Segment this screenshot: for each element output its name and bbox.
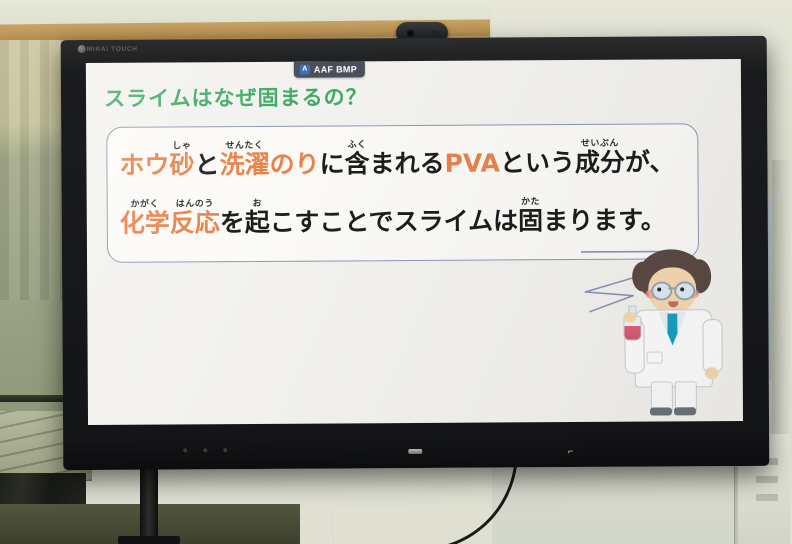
bezel-button[interactable]	[223, 448, 227, 452]
text-run: ウ	[144, 141, 169, 177]
character-eye-left	[657, 287, 661, 291]
text-base: 洗濯	[219, 152, 269, 177]
glasses-lens-left	[651, 281, 672, 300]
text-base: 起	[245, 210, 270, 235]
text-base: 砂	[169, 152, 194, 177]
text-run: お起	[245, 200, 270, 235]
app-badge-label: AAF BMP	[314, 64, 357, 74]
text-run: かがく化学	[120, 200, 170, 235]
text-base: こすことでスライムは	[270, 208, 518, 235]
text-base: まります。	[543, 207, 666, 233]
character-shoe-right	[674, 407, 696, 415]
bezel-button[interactable]	[183, 448, 187, 452]
text-base: 固	[518, 208, 543, 233]
text-run: せんたく洗濯	[219, 142, 269, 177]
text-base: が、	[625, 149, 675, 174]
text-run: せいぶん成分	[575, 140, 625, 175]
text-base: のり	[269, 152, 319, 177]
text-base: 含	[344, 151, 369, 176]
text-run: こすことでスライムは	[270, 197, 518, 235]
slide-title: スライムはなぜ固まるの？	[104, 81, 368, 113]
power-led	[408, 449, 422, 454]
screenshot-root: MIRAI TOUCH A AAF BMP スライムはなぜ固まるの？ ホ ウしゃ…	[0, 0, 792, 544]
text-run: に	[319, 140, 344, 176]
equipment-slot	[756, 476, 778, 483]
equipment-slot	[756, 494, 778, 501]
glasses-lens-right	[674, 281, 695, 300]
text-base: ウ	[144, 152, 169, 177]
text-run: が、	[625, 138, 675, 174]
bezel-marker-icon: ⌐	[568, 446, 573, 456]
text-run: ホ	[119, 142, 144, 178]
text-run: という	[500, 139, 575, 175]
text-run: を	[220, 199, 245, 235]
lab-coat-pocket	[647, 351, 663, 363]
text-run: まれる	[369, 140, 444, 176]
text-run: と	[194, 141, 219, 177]
text-run: ふく含	[344, 141, 369, 176]
text-base: まれる	[370, 151, 445, 176]
app-icon: A	[300, 65, 310, 75]
text-run: PVA	[444, 139, 500, 175]
text-base: 化学	[120, 210, 170, 235]
bubble-line-2: かがく化学はんのう反応 をお起 こすことでスライムはかた固 まります。	[120, 196, 666, 235]
brand-logo-icon	[78, 45, 86, 53]
scientist-character	[612, 247, 731, 418]
lab-coat-lapel-right	[676, 311, 686, 337]
slide-canvas: A AAF BMP スライムはなぜ固まるの？ ホ ウしゃ砂 とせんたく洗濯 のり…	[86, 59, 743, 425]
character-shoe-left	[650, 407, 672, 415]
text-base: を	[220, 210, 245, 235]
display-screen[interactable]: A AAF BMP スライムはなぜ固まるの？ ホ ウしゃ砂 とせんたく洗濯 のり…	[86, 59, 743, 425]
text-base: と	[194, 152, 219, 177]
interactive-display[interactable]: MIRAI TOUCH A AAF BMP スライムはなぜ固まるの？ ホ ウしゃ…	[61, 36, 770, 470]
character-arm-right	[702, 319, 722, 373]
text-base: ホ	[119, 153, 144, 178]
brand-label: MIRAI TOUCH	[87, 46, 138, 53]
text-base: PVA	[445, 150, 500, 175]
text-run: はんのう反応	[170, 200, 220, 235]
text-run: しゃ砂	[169, 142, 194, 177]
character-eye-right	[680, 287, 684, 291]
character-hand-left	[623, 312, 636, 323]
app-badge[interactable]: A AAF BMP	[294, 61, 365, 77]
text-base: という	[500, 150, 575, 175]
glasses-bridge	[668, 287, 675, 289]
text-run: まります。	[543, 196, 666, 233]
bubble-line-1: ホ ウしゃ砂 とせんたく洗濯 のり にふく含 まれる PVA というせいぶん成分…	[119, 138, 674, 177]
bezel-button[interactable]	[203, 448, 207, 452]
text-run: のり	[269, 141, 319, 177]
speech-bubble: ホ ウしゃ砂 とせんたく洗濯 のり にふく含 まれる PVA というせいぶん成分…	[106, 123, 699, 263]
lab-coat-lapel-left	[658, 311, 668, 337]
text-base: 成分	[575, 150, 625, 175]
flask-icon	[622, 306, 640, 340]
text-base: 反応	[170, 210, 220, 235]
display-stand-foot	[118, 536, 180, 544]
character-hand-right	[705, 367, 719, 379]
display-stand-leg	[140, 466, 158, 544]
text-base: に	[319, 151, 344, 176]
text-run: かた固	[518, 198, 543, 233]
